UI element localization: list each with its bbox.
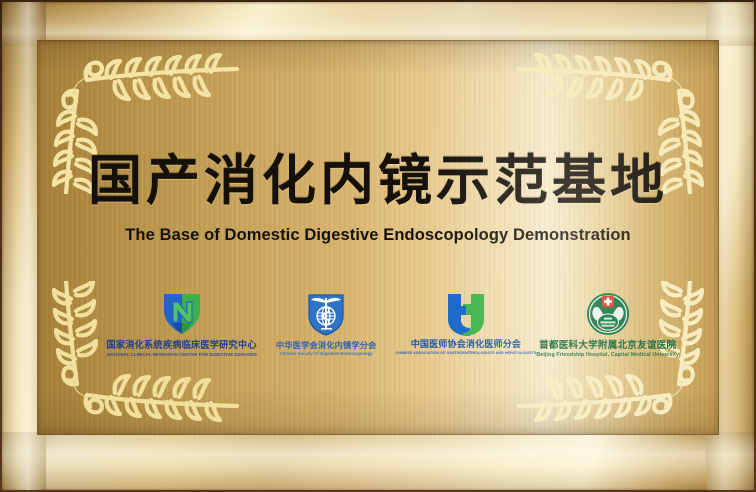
page-subtitle-english: The Base of Domestic Digestive Endoscopo…	[37, 226, 719, 245]
plaque-scene: 国产消化内镜示范基地 The Base of Domestic Digestiv…	[0, 0, 756, 492]
frame-bevel-bottom	[2, 432, 754, 490]
green-circle-cross-hands-icon	[586, 292, 630, 336]
logo-name-english: Beijing Friendship Hospital, Capital Med…	[536, 353, 679, 358]
logo-name-chinese: 首都医科大学附属北京友谊医院	[539, 341, 676, 351]
page-title-chinese: 国产消化内镜示范基地	[37, 152, 719, 210]
logo-name-chinese: 中华医学会消化内镜学分会	[276, 341, 377, 350]
logo-name-english: CHINESE ASSOCIATION OF GASTROENTEROLOGIS…	[395, 352, 536, 356]
logo-row: 国家消化系统疾病临床医学研究中心 NATIONAL CLINICAL RESEA…	[107, 292, 679, 359]
logo-item: 中华医学会消化内镜学分会 Chinese Society Of Digestiv…	[257, 292, 395, 356]
logo-item: 首都医科大学附属北京友谊医院 Beijing Friendship Hospit…	[536, 292, 679, 359]
plaque-frame: 国产消化内镜示范基地 The Base of Domestic Digestiv…	[2, 2, 754, 490]
logo-name-chinese: 国家消化系统疾病临床医学研究中心	[107, 341, 257, 351]
logo-item: 国家消化系统疾病临床医学研究中心 NATIONAL CLINICAL RESEA…	[107, 292, 257, 358]
logo-item: 中国医师协会消化医师分会 CHINESE ASSOCIATION OF GAST…	[395, 292, 536, 356]
plaque-face: 国产消化内镜示范基地 The Base of Domestic Digestiv…	[37, 40, 719, 435]
title-block: 国产消化内镜示范基地 The Base of Domestic Digestiv…	[37, 152, 719, 245]
logo-name-english: Chinese Society Of Digestive Endoscopolo…	[280, 352, 373, 356]
shield-n-icon	[161, 292, 203, 336]
logo-name-english: NATIONAL CLINICAL RESEARCH CENTER FOR DI…	[107, 353, 257, 358]
hg-monogram-icon	[444, 292, 488, 336]
shield-caduceus-globe-icon	[307, 292, 345, 336]
logo-name-chinese: 中国医师协会消化医师分会	[411, 341, 521, 350]
